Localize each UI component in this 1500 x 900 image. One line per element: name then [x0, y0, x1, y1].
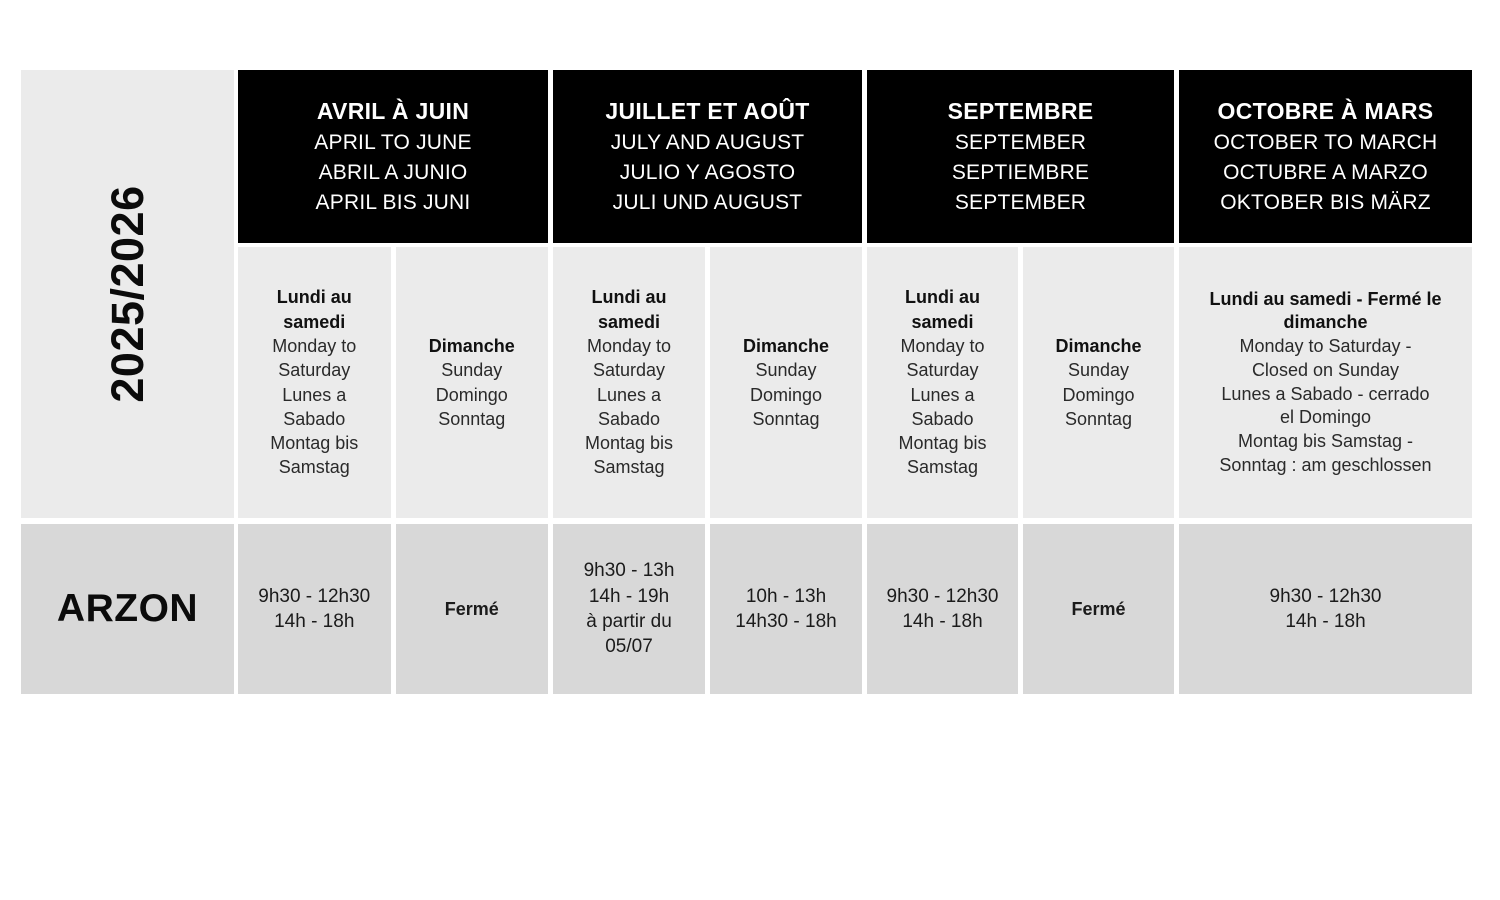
opening-hours-table: 2025/2026 AVRIL À JUIN APRIL TO JUNE ABR…	[21, 70, 1472, 694]
season-title-de: APRIL BIS JUNI	[316, 188, 471, 218]
hours-band-octobre-mars: 9h30 - 12h30 14h - 18h	[1179, 524, 1472, 694]
season-title-fr: JUILLET ET AOÛT	[605, 96, 809, 126]
day-label-es: Domingo	[750, 383, 822, 407]
hours-line-1: 9h30 - 12h30	[887, 584, 999, 609]
hours-cell-sunday-septembre: Fermé	[1023, 524, 1174, 694]
day-label-es-1: Lunes a	[597, 383, 661, 407]
day-label-fr: Dimanche	[429, 334, 515, 358]
schedule-page: 2025/2026 AVRIL À JUIN APRIL TO JUNE ABR…	[0, 0, 1500, 900]
day-label-de-2: Sonntag : am geschlossen	[1219, 454, 1431, 478]
hours-line-1: Fermé	[445, 597, 499, 621]
season-title-de: SEPTEMBER	[955, 188, 1086, 218]
season-title-en: APRIL TO JUNE	[314, 128, 471, 158]
day-cell-sunday-juillet-aout: Dimanche Sunday Domingo Sonntag	[710, 247, 862, 518]
hours-cell-weekday-septembre: 9h30 - 12h30 14h - 18h	[867, 524, 1018, 694]
hours-line-2: 14h - 19h	[589, 584, 669, 609]
day-label-es-2: Sabado	[283, 407, 345, 431]
season-title-en: OCTOBER TO MARCH	[1214, 128, 1438, 158]
day-label-de-2: Samstag	[593, 455, 664, 479]
season-header-avril-juin: AVRIL À JUIN APRIL TO JUNE ABRIL A JUNIO…	[238, 70, 548, 243]
season-title-es: JULIO Y AGOSTO	[620, 158, 796, 188]
day-label-de: Sonntag	[1065, 407, 1132, 431]
year-label-cell: 2025/2026	[21, 70, 234, 518]
day-label-es-2: el Domingo	[1280, 406, 1371, 430]
day-cell-sunday-septembre: Dimanche Sunday Domingo Sonntag	[1023, 247, 1174, 518]
place-label: ARZON	[57, 587, 198, 631]
day-band-juillet-aout: Lundi au samedi Monday to Saturday Lunes…	[553, 247, 862, 518]
day-label-en: Sunday	[441, 358, 502, 382]
day-cell-weekday-septembre: Lundi au samedi Monday to Saturday Lunes…	[867, 247, 1018, 518]
season-title-fr: SEPTEMBRE	[948, 96, 1094, 126]
season-title-es: OCTUBRE A MARZO	[1223, 158, 1428, 188]
day-band-avril-juin: Lundi au samedi Monday to Saturday Lunes…	[238, 247, 548, 518]
season-header-juillet-aout: JUILLET ET AOÛT JULY AND AUGUST JULIO Y …	[553, 70, 862, 243]
hours-line-1: 9h30 - 12h30	[258, 584, 370, 609]
day-cell-weekday-juillet-aout: Lundi au samedi Monday to Saturday Lunes…	[553, 247, 705, 518]
hours-cell-weekday-juillet-aout: 9h30 - 13h 14h - 19h à partir du 05/07	[553, 524, 705, 694]
day-band-octobre-mars: Lundi au samedi - Fermé le dimanche Mond…	[1179, 247, 1472, 518]
day-cell-sunday-avril-juin: Dimanche Sunday Domingo Sonntag	[396, 247, 549, 518]
season-header-octobre-mars: OCTOBRE À MARS OCTOBER TO MARCH OCTUBRE …	[1179, 70, 1472, 243]
hours-line-3: à partir du	[586, 609, 672, 634]
day-label-es-2: Sabado	[911, 407, 973, 431]
day-label-fr: Lundi au samedi	[246, 285, 383, 334]
day-label-de-1: Montag bis	[270, 431, 358, 455]
day-label-es-1: Lunes a Sabado - cerrado	[1221, 383, 1429, 407]
hours-band-avril-juin: 9h30 - 12h30 14h - 18h Fermé	[238, 524, 548, 694]
day-band-septembre: Lundi au samedi Monday to Saturday Lunes…	[867, 247, 1174, 518]
season-title-de: OKTOBER BIS MÄRZ	[1220, 188, 1431, 218]
day-label-en-2: Saturday	[593, 358, 665, 382]
season-header-septembre: SEPTEMBRE SEPTEMBER SEPTIEMBRE SEPTEMBER	[867, 70, 1174, 243]
day-label-en: Sunday	[1068, 358, 1129, 382]
day-label-fr: Dimanche	[1055, 334, 1141, 358]
season-title-fr: OCTOBRE À MARS	[1218, 96, 1434, 126]
hours-cell-weekday-avril-juin: 9h30 - 12h30 14h - 18h	[238, 524, 391, 694]
day-label-es-2: Sabado	[598, 407, 660, 431]
day-cell-combined-octobre-mars: Lundi au samedi - Fermé le dimanche Mond…	[1179, 247, 1472, 518]
day-label-es-1: Lunes a	[282, 383, 346, 407]
day-label-es: Domingo	[436, 383, 508, 407]
season-title-en: JULY AND AUGUST	[611, 128, 805, 158]
season-title-de: JULI UND AUGUST	[613, 188, 803, 218]
day-label-en-1: Monday to	[900, 334, 984, 358]
day-cell-weekday-avril-juin: Lundi au samedi Monday to Saturday Lunes…	[238, 247, 391, 518]
hours-line-2: 14h - 18h	[902, 609, 982, 634]
hours-line-2: 14h30 - 18h	[735, 609, 836, 634]
hours-cell-octobre-mars: 9h30 - 12h30 14h - 18h	[1179, 524, 1472, 694]
day-label-de: Sonntag	[438, 407, 505, 431]
day-label-de-2: Samstag	[279, 455, 350, 479]
hours-line-1: 9h30 - 13h	[584, 558, 675, 583]
day-label-fr: Dimanche	[743, 334, 829, 358]
hours-band-septembre: 9h30 - 12h30 14h - 18h Fermé	[867, 524, 1174, 694]
day-label-es-1: Lunes a	[910, 383, 974, 407]
hours-cell-sunday-juillet-aout: 10h - 13h 14h30 - 18h	[710, 524, 862, 694]
day-label-en-2: Saturday	[906, 358, 978, 382]
day-label-de-2: Samstag	[907, 455, 978, 479]
hours-line-1: Fermé	[1071, 597, 1125, 621]
day-label-en-2: Closed on Sunday	[1252, 359, 1399, 383]
season-title-es: ABRIL A JUNIO	[319, 158, 468, 188]
day-label-de: Sonntag	[752, 407, 819, 431]
season-title-es: SEPTIEMBRE	[952, 158, 1089, 188]
hours-band-juillet-aout: 9h30 - 13h 14h - 19h à partir du 05/07 1…	[553, 524, 862, 694]
hours-line-2: 14h - 18h	[274, 609, 354, 634]
hours-line-4: 05/07	[605, 634, 653, 659]
day-label-de-1: Montag bis Samstag -	[1238, 430, 1413, 454]
day-label-en-1: Monday to	[587, 334, 671, 358]
day-label-es: Domingo	[1062, 383, 1134, 407]
place-label-cell: ARZON	[21, 524, 234, 694]
day-label-fr: Lundi au samedi	[875, 285, 1010, 334]
hours-line-2: 14h - 18h	[1285, 609, 1365, 634]
day-label-en: Sunday	[755, 358, 816, 382]
season-title-fr: AVRIL À JUIN	[317, 96, 469, 126]
season-title-en: SEPTEMBER	[955, 128, 1086, 158]
hours-cell-sunday-avril-juin: Fermé	[396, 524, 549, 694]
day-label-de-1: Montag bis	[585, 431, 673, 455]
year-label: 2025/2026	[102, 185, 154, 402]
day-label-de-1: Montag bis	[898, 431, 986, 455]
day-label-fr: Lundi au samedi - Fermé le dimanche	[1187, 288, 1464, 336]
day-label-en-1: Monday to	[272, 334, 356, 358]
day-label-en-1: Monday to Saturday -	[1239, 335, 1411, 359]
day-label-fr: Lundi au samedi	[561, 285, 697, 334]
hours-line-1: 10h - 13h	[746, 584, 826, 609]
hours-line-1: 9h30 - 12h30	[1270, 584, 1382, 609]
day-label-en-2: Saturday	[278, 358, 350, 382]
